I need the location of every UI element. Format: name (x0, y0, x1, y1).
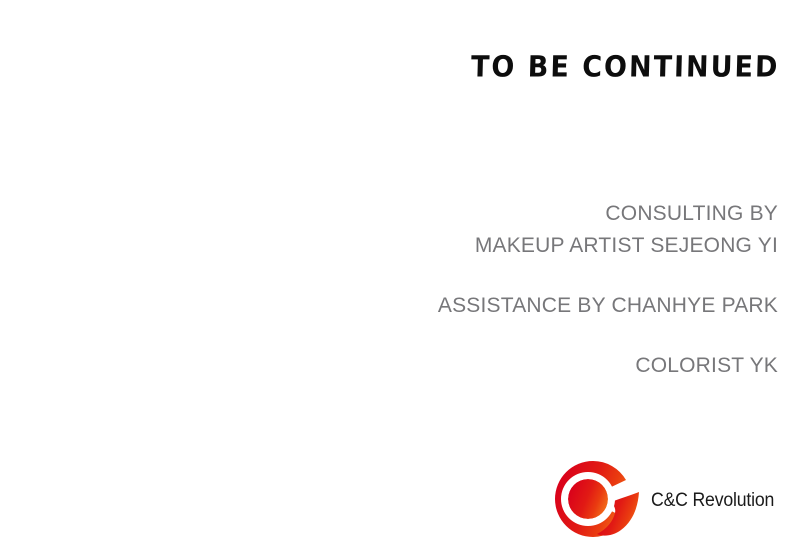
credit-block: CONSULTING BY MAKEUP ARTIST SEJEONG YI (218, 198, 778, 262)
credits-list: CONSULTING BY MAKEUP ARTIST SEJEONG YI A… (218, 198, 778, 382)
comic-end-page: TO BE CONTINUED CONSULTING BY MAKEUP ART… (0, 0, 800, 556)
cc-revolution-c-logo-icon (545, 459, 641, 543)
credit-line: COLORIST YK (218, 350, 778, 382)
credit-line: ASSISTANCE BY CHANHYE PARK (218, 290, 778, 322)
credit-line: CONSULTING BY (218, 198, 778, 230)
logo-wordmark: C&C Revolution (651, 490, 774, 512)
credit-block: COLORIST YK (218, 350, 778, 382)
credit-block: ASSISTANCE BY CHANHYE PARK (218, 290, 778, 322)
credit-line: MAKEUP ARTIST SEJEONG YI (218, 230, 778, 262)
page-title: TO BE CONTINUED (470, 51, 779, 84)
studio-logo: C&C Revolution (545, 458, 785, 544)
